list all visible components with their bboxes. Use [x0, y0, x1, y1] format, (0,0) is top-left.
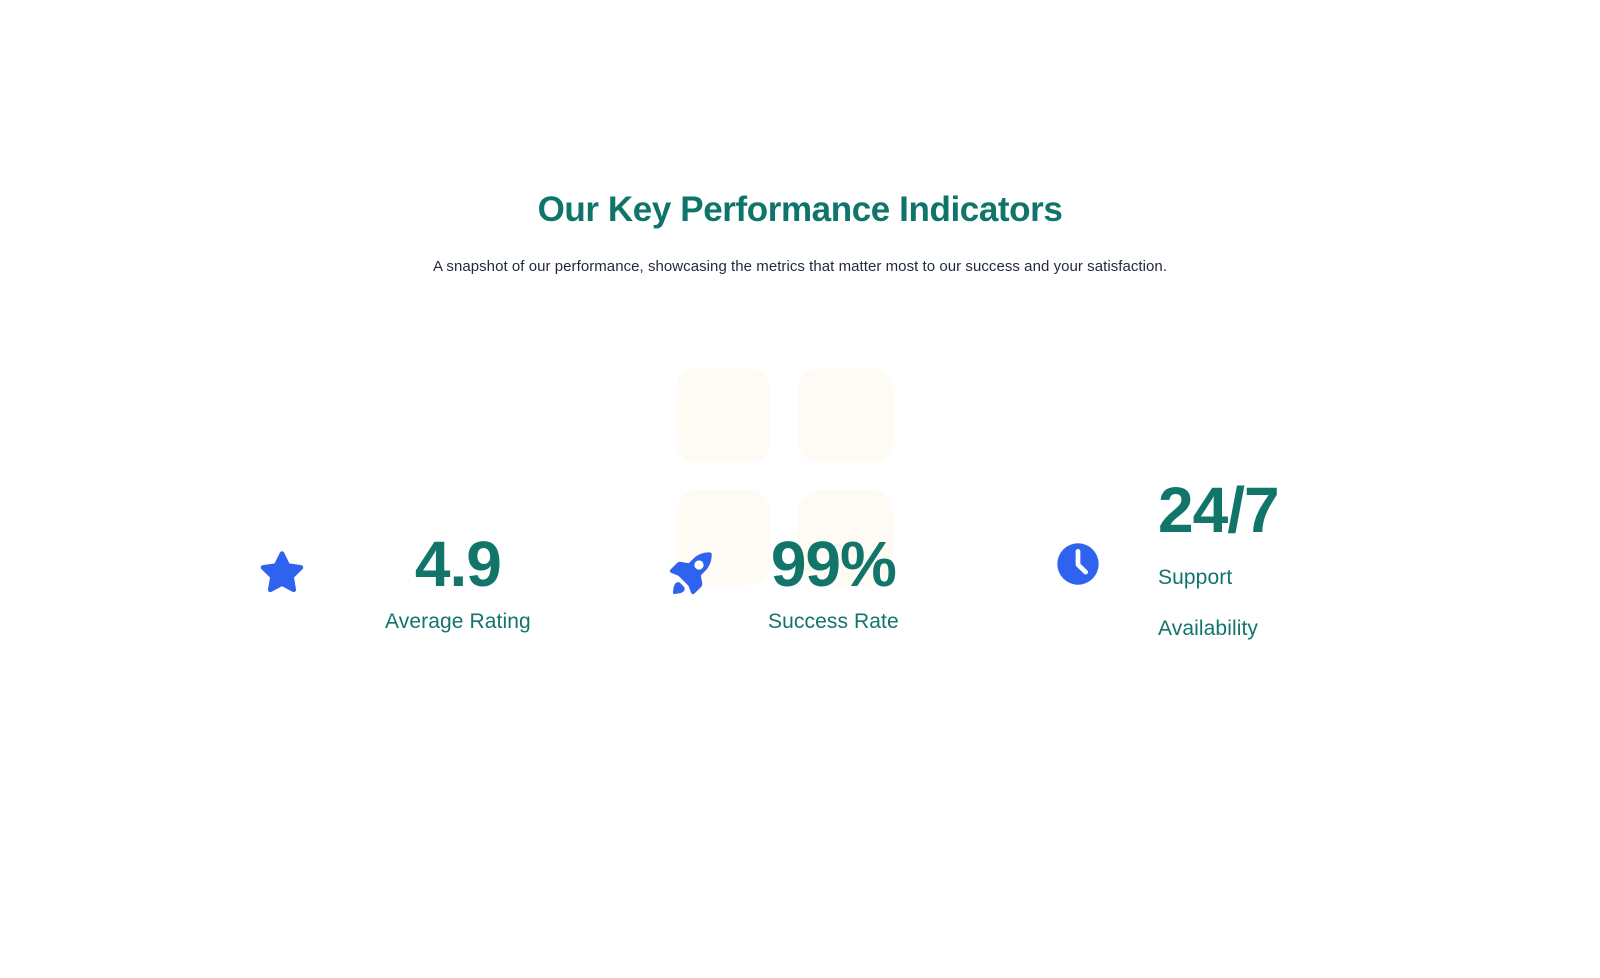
stat-value: 4.9: [415, 532, 501, 596]
stat-label-line-2: Availability: [1158, 603, 1258, 654]
stat-card-average-rating: 4.9 Average Rating: [255, 532, 531, 634]
stat-label: Average Rating: [385, 610, 531, 634]
kpi-page: Our Key Performance Indicators A snapsho…: [0, 0, 1600, 978]
stat-label-line-1: Support: [1158, 552, 1232, 603]
stat-text-support-availability: 24/7 Support Availability: [1158, 478, 1279, 654]
stats-row: 4.9 Average Rating 99% Success Rate: [0, 0, 1600, 978]
stat-label: Success Rate: [768, 610, 899, 634]
stat-value: 24/7: [1158, 478, 1279, 542]
rocket-icon: [664, 546, 718, 600]
stat-card-success-rate: 99% Success Rate: [664, 532, 899, 634]
stat-text-success-rate: 99% Success Rate: [768, 532, 899, 634]
stat-value: 99%: [771, 532, 896, 596]
star-icon: [255, 546, 309, 600]
clock-icon: [1051, 537, 1105, 591]
stat-text-average-rating: 4.9 Average Rating: [385, 532, 531, 634]
stat-card-support-availability: 24/7 Support Availability: [1051, 478, 1279, 654]
